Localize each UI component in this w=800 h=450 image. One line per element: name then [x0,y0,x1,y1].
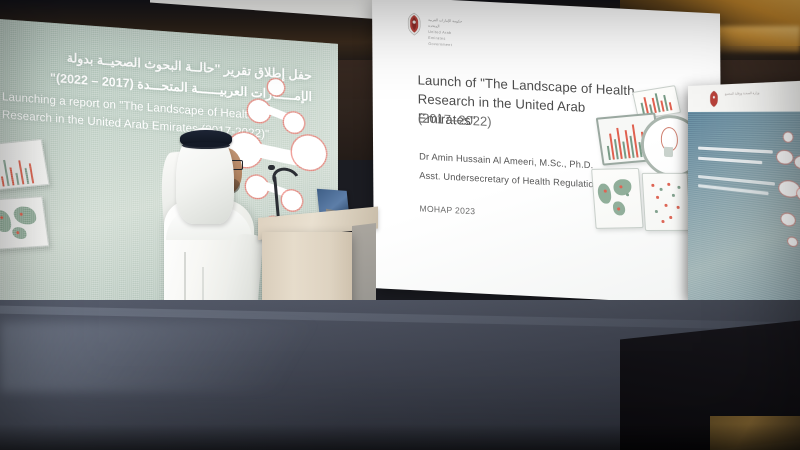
conference-stage-photo: حفل إطلاق تقرير "حالــة البحوث الصحيــة … [0,0,800,450]
uae-emblem-icon [707,90,721,108]
bottom-vignette [0,424,800,450]
center-presentation-slide: حكومة الإمارات العربية المتحدة United Ar… [372,0,722,306]
slide-speaker-name: Dr Amin Hussain Al Ameeri, M.Sc., Ph.D. [419,151,593,170]
slide-title-line-1: Launch of "The Landscape of Health [418,70,643,100]
left-screen-english-line-1: Launching a report on "The Landscape of … [2,91,312,126]
bar-chart-card [0,139,50,191]
falcon-emblem-icon [404,12,424,37]
world-map-card [591,168,643,229]
right-screen-english-line-1 [698,175,775,185]
emblem-caption: حكومة الإمارات العربية المتحدة United Ar… [428,17,464,49]
left-screen-band-text: وزارة الصحـة ووقاية المجتمع [150,0,410,3]
slide-title-line-2: Research in the United Arab Emirates" [418,89,643,138]
scatter-plot-card [642,173,691,231]
slide-footer: MOHAP 2023 [419,203,475,216]
uae-government-emblem: حكومة الإمارات العربية المتحدة United Ar… [404,12,464,41]
world-map-card [0,196,49,250]
right-screen-arabic-line-1 [698,147,773,154]
slide-title: Launch of "The Landscape of Health Resea… [418,70,643,138]
right-screen-arabic-line-2 [698,157,762,165]
right-screen-english-line-2 [698,184,768,195]
right-screen-band-text: وزارة الصحـة ووقاية المجتمع [725,91,760,97]
stage-floor-sheen [0,322,420,392]
molecule-dot [795,156,800,169]
agal-lower-cord [182,142,230,149]
molecule-dot [781,213,794,227]
right-screen-top-band: وزارة الصحـة ووقاية المجتمع [688,80,800,112]
molecule-dot [779,180,799,197]
slide-years: (2017–2022) [418,110,492,129]
lightbulb-glass [661,127,678,152]
lightbulb-base [664,147,673,157]
slide-speaker-role: Asst. Undersecretary of Health Regulatio… [419,170,629,191]
molecule-dot [777,150,792,164]
molecule-dot [788,237,797,247]
left-screen-arabic-line-1: حفل إطلاق تقرير "حالــة البحوث الصحيــة … [2,45,312,83]
left-screen-arabic-line-2: الإمـــــارات العربيــــــة المتحـــدة (… [2,66,312,104]
bar-chart-card [596,112,662,165]
line-chart-card [632,85,681,120]
microphone-head [268,165,275,170]
molecule-dot [784,132,793,142]
